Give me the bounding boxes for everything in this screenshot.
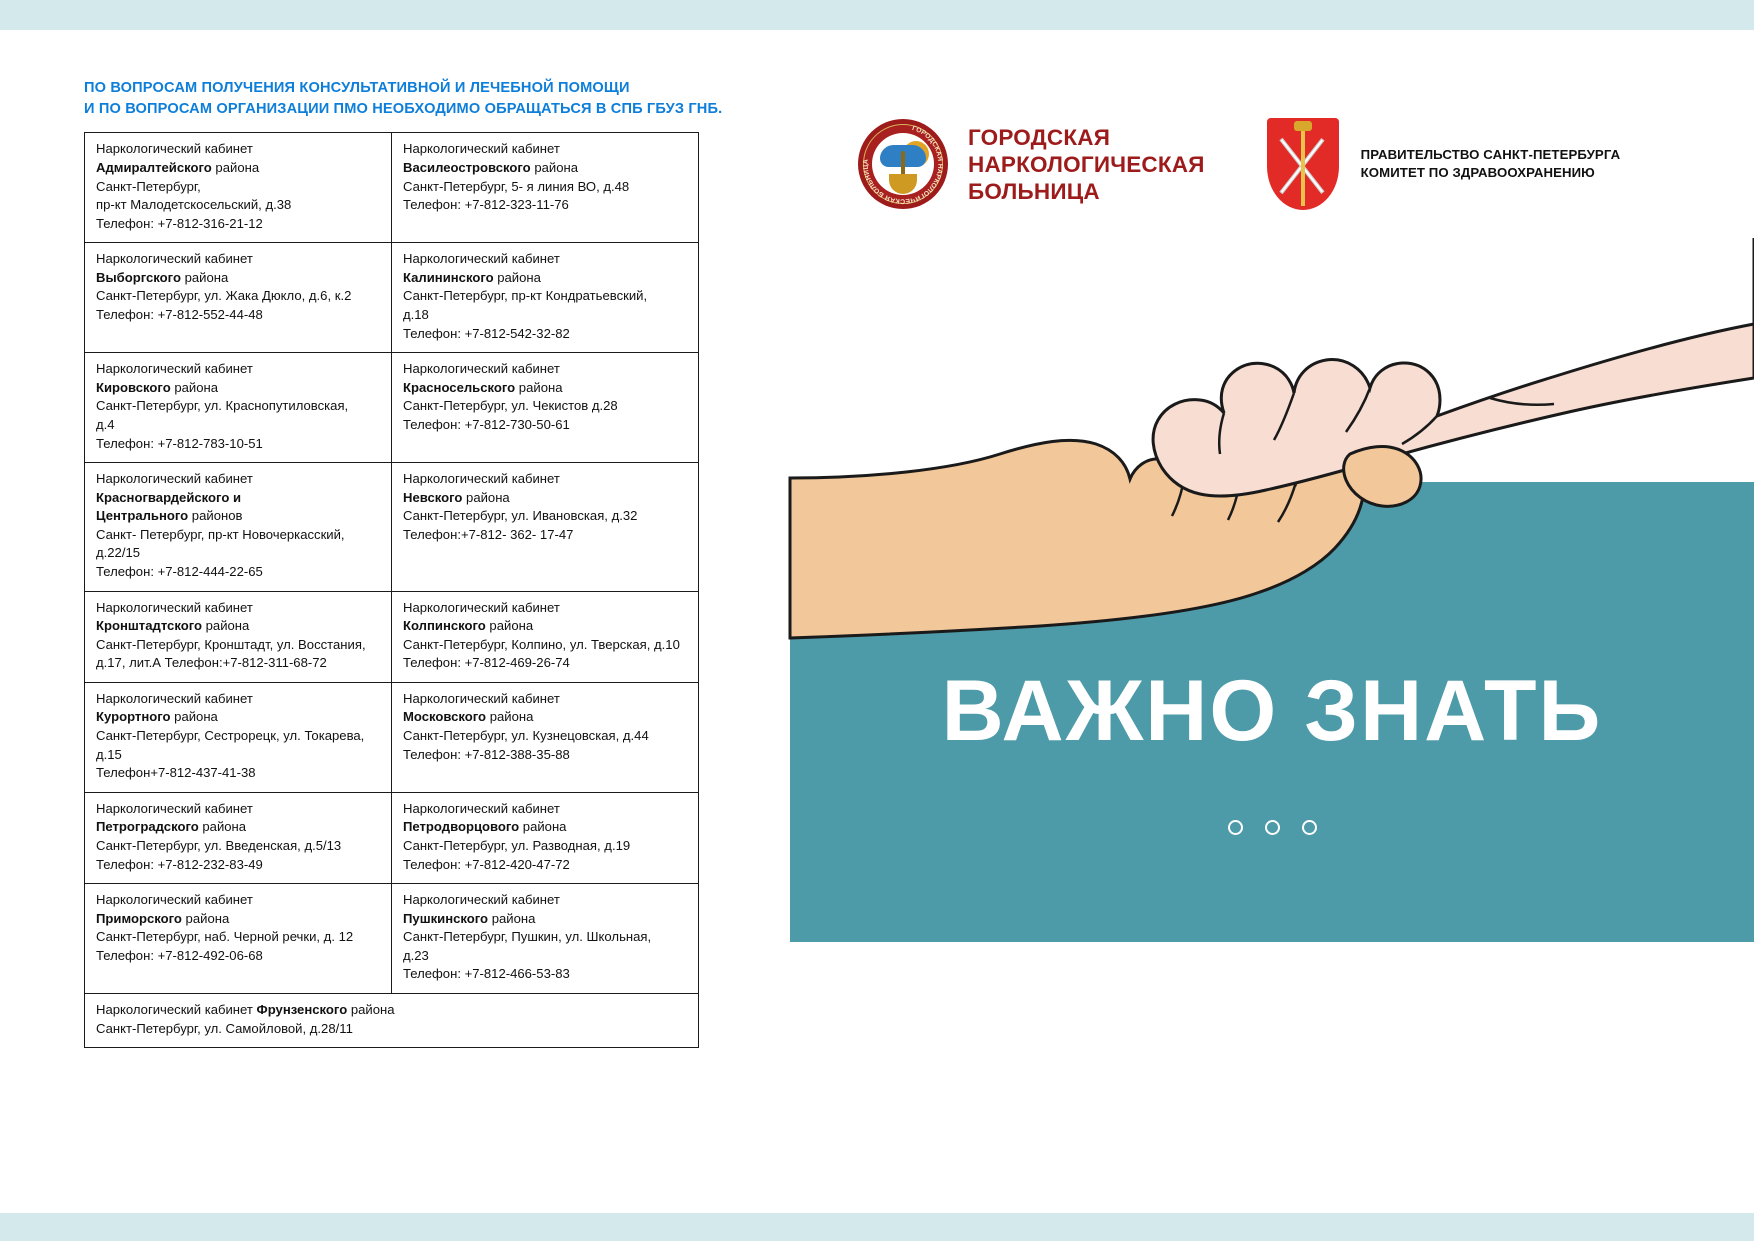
headline-line-1: ПО ВОПРОСАМ ПОЛУЧЕНИЯ КОНСУЛЬТАТИВНОЙ И … — [84, 78, 714, 99]
office-cell-admiralteysky: Наркологический кабинет Адмиралтейского … — [85, 133, 392, 243]
office-phone: Телефон: +7-812-232-83-49 — [96, 856, 382, 875]
office-cell-kolpinsky: Наркологический кабинет Колпинского райо… — [392, 591, 699, 682]
office-cell-kirovsky: Наркологический кабинет Кировского район… — [85, 353, 392, 463]
office-district: Петродворцового района — [403, 818, 689, 837]
office-phone: Телефон: +7-812-323-11-76 — [403, 196, 689, 215]
office-district: Пушкинского района — [403, 910, 689, 929]
office-address-1: Санкт-Петербург, ул. Ивановская, д.32 — [403, 507, 689, 526]
office-district: Адмиралтейского района — [96, 159, 382, 178]
spb-coat-of-arms-icon — [1267, 118, 1339, 210]
office-cell-kronshtadtsky: Наркологический кабинет Кронштадтского р… — [85, 591, 392, 682]
hospital-name-line-2: НАРКОЛОГИЧЕСКАЯ — [968, 151, 1205, 178]
office-district: Красносельского района — [403, 379, 689, 398]
office-address-1: Санкт-Петербург, ул. Жака Дюкло, д.6, к.… — [96, 287, 382, 306]
headline-line-2: И ПО ВОПРОСАМ ОРГАНИЗАЦИИ ПМО НЕОБХОДИМО… — [84, 99, 714, 120]
office-cell-kurortny: Наркологический кабинет Курортного район… — [85, 682, 392, 792]
hospital-name-line-1: ГОРОДСКАЯ — [968, 124, 1205, 151]
office-district: Приморского района — [96, 910, 382, 929]
office-address-2: д.17, лит.А Телефон:+7-812-311-68-72 — [96, 654, 382, 673]
office-cell-krasnogvardeysky-centralny: Наркологический кабинет Красногвардейско… — [85, 463, 392, 591]
office-label: Наркологический кабинет — [96, 690, 382, 709]
office-district: Московского района — [403, 708, 689, 727]
office-label: Наркологический кабинет — [96, 599, 382, 618]
office-address-1: Санкт-Петербург, ул. Разводная, д.19 — [403, 837, 689, 856]
office-phone: Телефон: +7-812-316-21-12 — [96, 215, 382, 234]
government-line-1: ПРАВИТЕЛЬСТВО САНКТ-ПЕТЕРБУРГА — [1361, 146, 1621, 164]
office-label: Наркологический кабинет — [403, 470, 689, 489]
office-address-1: Санкт-Петербург, — [96, 178, 382, 197]
office-address-1: Санкт-Петербург, ул. Самойловой, д.28/11 — [96, 1020, 689, 1039]
office-label: Наркологический кабинет — [96, 140, 382, 159]
office-phone: Телефон: +7-812-466-53-83 — [403, 965, 689, 984]
office-label: Наркологический кабинет — [403, 599, 689, 618]
office-phone: Телефон: +7-812-783-10-51 — [96, 435, 382, 454]
bowl-icon — [889, 174, 917, 194]
table-row: Наркологический кабинет Красногвардейско… — [85, 463, 699, 591]
cover-title: ВАЖНО ЗНАТЬ — [790, 668, 1754, 754]
office-district: Красногвардейского и — [96, 489, 382, 508]
office-district: Невского района — [403, 489, 689, 508]
office-address-1: Санкт-Петербург, Пушкин, ул. Школьная, — [403, 928, 689, 947]
office-cell-vyborgsky: Наркологический кабинет Выборгского райо… — [85, 243, 392, 353]
right-panel: ГОРОДСКАЯ НАРКОЛОГИЧЕСКАЯ БОЛЬНИЦА ГОРОД… — [790, 0, 1754, 1241]
government-line-2: КОМИТЕТ ПО ЗДРАВООХРАНЕНИЮ — [1361, 164, 1621, 182]
office-address-1: Санкт-Петербург, 5- я линия ВО, д.48 — [403, 178, 689, 197]
office-phone: Телефон: +7-812-469-26-74 — [403, 654, 689, 673]
office-label: Наркологический кабинет — [96, 250, 382, 269]
office-cell-petrogradsky: Наркологический кабинет Петроградского р… — [85, 792, 392, 883]
brochure-page: ПО ВОПРОСАМ ПОЛУЧЕНИЯ КОНСУЛЬТАТИВНОЙ И … — [0, 0, 1754, 1241]
office-district: Петроградского района — [96, 818, 382, 837]
office-cell-kalininsky: Наркологический кабинет Калининского рай… — [392, 243, 699, 353]
office-address-1: Санкт-Петербург, ул. Кузнецовская, д.44 — [403, 727, 689, 746]
office-phone: Телефон: +7-812-388-35-88 — [403, 746, 689, 765]
crown-icon — [1294, 121, 1312, 131]
office-district: Кронштадтского района — [96, 617, 382, 636]
hospital-name: ГОРОДСКАЯ НАРКОЛОГИЧЕСКАЯ БОЛЬНИЦА — [968, 124, 1205, 205]
office-cell-moskovsky: Наркологический кабинет Московского райо… — [392, 682, 699, 792]
office-cell-petrodvortsovy: Наркологический кабинет Петродворцового … — [392, 792, 699, 883]
office-district: Кировского района — [96, 379, 382, 398]
table-row: Наркологический кабинет Выборгского райо… — [85, 243, 699, 353]
office-address-2: пр-кт Малодетскосельский, д.38 — [96, 196, 382, 215]
table-row: Наркологический кабинет Фрунзенского рай… — [85, 993, 699, 1047]
office-label: Наркологический кабинет — [403, 800, 689, 819]
office-address-2: д.15 — [96, 746, 382, 765]
office-phone: Телефон: +7-812-492-06-68 — [96, 947, 382, 966]
office-cell-nevsky: Наркологический кабинет Невского района … — [392, 463, 699, 591]
offices-table: Наркологический кабинет Адмиралтейского … — [84, 132, 699, 1048]
office-address-1: Санкт-Петербург, Сестрорецк, ул. Токарев… — [96, 727, 382, 746]
table-row: Наркологический кабинет Приморского райо… — [85, 884, 699, 994]
office-label: Наркологический кабинет — [96, 470, 382, 489]
table-row: Наркологический кабинет Кронштадтского р… — [85, 591, 699, 682]
table-row: Наркологический кабинет Адмиралтейского … — [85, 133, 699, 243]
office-district-2: Центрального районов — [96, 507, 382, 526]
government-logo: ПРАВИТЕЛЬСТВО САНКТ-ПЕТЕРБУРГА КОМИТЕТ П… — [1267, 118, 1621, 210]
scepter-icon — [1301, 126, 1305, 206]
office-label: Наркологический кабинет — [403, 140, 689, 159]
office-address-1: Санкт-Петербург, ул. Чекистов д.28 — [403, 397, 689, 416]
office-label: Наркологический кабинет — [96, 360, 382, 379]
office-phone: Телефон:+7-812- 362- 17-47 — [403, 526, 689, 545]
office-district: Выборгского района — [96, 269, 382, 288]
office-address-2: д.18 — [403, 306, 689, 325]
office-cell-pushkinsky: Наркологический кабинет Пушкинского райо… — [392, 884, 699, 994]
office-district: Василеостровского района — [403, 159, 689, 178]
table-row: Наркологический кабинет Кировского район… — [85, 353, 699, 463]
office-phone: Телефон: +7-812-444-22-65 — [96, 563, 382, 582]
office-address-2: д.4 — [96, 416, 382, 435]
office-cell-vasileostrovsky: Наркологический кабинет Василеостровског… — [392, 133, 699, 243]
office-cell-frunzensky: Наркологический кабинет Фрунзенского рай… — [85, 993, 699, 1047]
office-address-1: Санкт-Петербург, пр-кт Кондратьевский, — [403, 287, 689, 306]
office-address-1: Санкт-Петербург, Колпино, ул. Тверская, … — [403, 636, 689, 655]
office-address-2: д.22/15 — [96, 544, 382, 563]
office-district: Колпинского района — [403, 617, 689, 636]
office-address-1: Санкт-Петербург, ул. Краснопутиловская, — [96, 397, 382, 416]
decorative-dots — [790, 820, 1754, 835]
office-phone: Телефон: +7-812-552-44-48 — [96, 306, 382, 325]
office-address-2: д.23 — [403, 947, 689, 966]
office-label: Наркологический кабинет — [403, 360, 689, 379]
office-label: Наркологический кабинет — [403, 891, 689, 910]
office-district: Курортного района — [96, 708, 382, 727]
office-address-1: Санкт-Петербург, Кронштадт, ул. Восстани… — [96, 636, 382, 655]
office-district: Калининского района — [403, 269, 689, 288]
office-cell-primorsky: Наркологический кабинет Приморского райо… — [85, 884, 392, 994]
office-address-1: Санкт- Петербург, пр-кт Новочеркасский, — [96, 526, 382, 545]
office-phone: Телефон: +7-812-420-47-72 — [403, 856, 689, 875]
office-label: Наркологический кабинет — [403, 250, 689, 269]
table-row: Наркологический кабинет Курортного район… — [85, 682, 699, 792]
office-phone: Телефон+7-812-437-41-38 — [96, 764, 382, 783]
logos-row: ГОРОДСКАЯ НАРКОЛОГИЧЕСКАЯ БОЛЬНИЦА ГОРОД… — [858, 118, 1620, 210]
left-panel: ПО ВОПРОСАМ ПОЛУЧЕНИЯ КОНСУЛЬТАТИВНОЙ И … — [84, 78, 714, 1048]
office-phone: Телефон: +7-812-730-50-61 — [403, 416, 689, 435]
government-name: ПРАВИТЕЛЬСТВО САНКТ-ПЕТЕРБУРГА КОМИТЕТ П… — [1361, 146, 1621, 182]
office-address-1: Санкт-Петербург, ул. Введенская, д.5/13 — [96, 837, 382, 856]
dot-icon — [1265, 820, 1280, 835]
hospital-name-line-3: БОЛЬНИЦА — [968, 178, 1205, 205]
table-row: Наркологический кабинет Петроградского р… — [85, 792, 699, 883]
holding-hands-illustration — [790, 228, 1754, 668]
office-label: Наркологический кабинет — [403, 690, 689, 709]
office-cell-krasnoselsky: Наркологический кабинет Красносельского … — [392, 353, 699, 463]
office-label: Наркологический кабинет — [96, 800, 382, 819]
page-title: ПО ВОПРОСАМ ПОЛУЧЕНИЯ КОНСУЛЬТАТИВНОЙ И … — [84, 78, 714, 119]
dot-icon — [1302, 820, 1317, 835]
dot-icon — [1228, 820, 1243, 835]
office-phone: Телефон: +7-812-542-32-82 — [403, 325, 689, 344]
office-label: Наркологический кабинет Фрунзенского рай… — [96, 1001, 689, 1020]
hospital-logo: ГОРОДСКАЯ НАРКОЛОГИЧЕСКАЯ БОЛЬНИЦА ГОРОД… — [858, 119, 1205, 209]
office-label: Наркологический кабинет — [96, 891, 382, 910]
office-address-1: Санкт-Петербург, наб. Черной речки, д. 1… — [96, 928, 382, 947]
hospital-seal-icon: ГОРОДСКАЯ НАРКОЛОГИЧЕСКАЯ БОЛЬНИЦА — [858, 119, 948, 209]
